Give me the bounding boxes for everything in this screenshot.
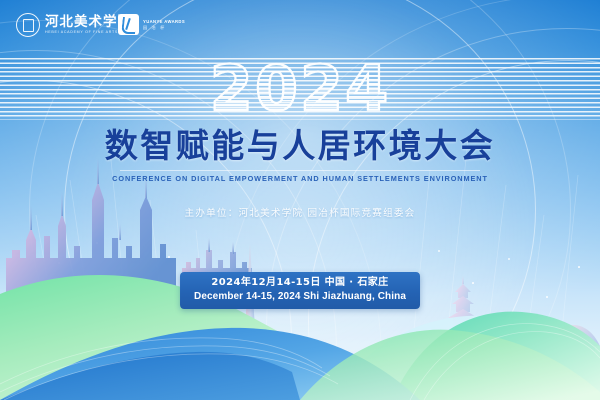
partner-name-cn: 园 冶 杯	[143, 25, 185, 30]
organizer-line: 主办单位：河北美术学院 园冶杯国际竞赛组委会	[0, 207, 600, 221]
partner-name-en: YUANYE AWARDS	[143, 19, 185, 24]
conference-poster: 河北美术学院 HEBEI ACADEMY OF FINE ARTS YUANYE…	[0, 0, 600, 400]
academy-logo[interactable]: 河北美术学院 HEBEI ACADEMY OF FINE ARTS	[16, 13, 132, 37]
title-divider	[120, 170, 480, 171]
date-line-en: December 14-15, 2024 Shi Jiazhuang, Chin…	[194, 290, 406, 304]
partner-logo[interactable]: YUANYE AWARDS 园 冶 杯	[118, 14, 185, 35]
date-line-cn: 2024年12月14-15日 中国 · 石家庄	[194, 276, 406, 290]
page-title: 数智赋能与人居环境大会	[0, 126, 600, 166]
poster-header: 河北美术学院 HEBEI ACADEMY OF FINE ARTS YUANYE…	[0, 0, 600, 52]
yuanye-award-mark-icon	[118, 14, 139, 35]
year-block: 2024	[0, 58, 600, 120]
date-location-badge: 2024年12月14-15日 中国 · 石家庄 December 14-15, …	[180, 272, 420, 309]
seal-emblem-icon	[16, 13, 40, 37]
year-text: 2024	[210, 58, 391, 120]
page-subtitle: CONFERENCE ON DIGITAL EMPOWERMENT AND HU…	[0, 173, 600, 184]
